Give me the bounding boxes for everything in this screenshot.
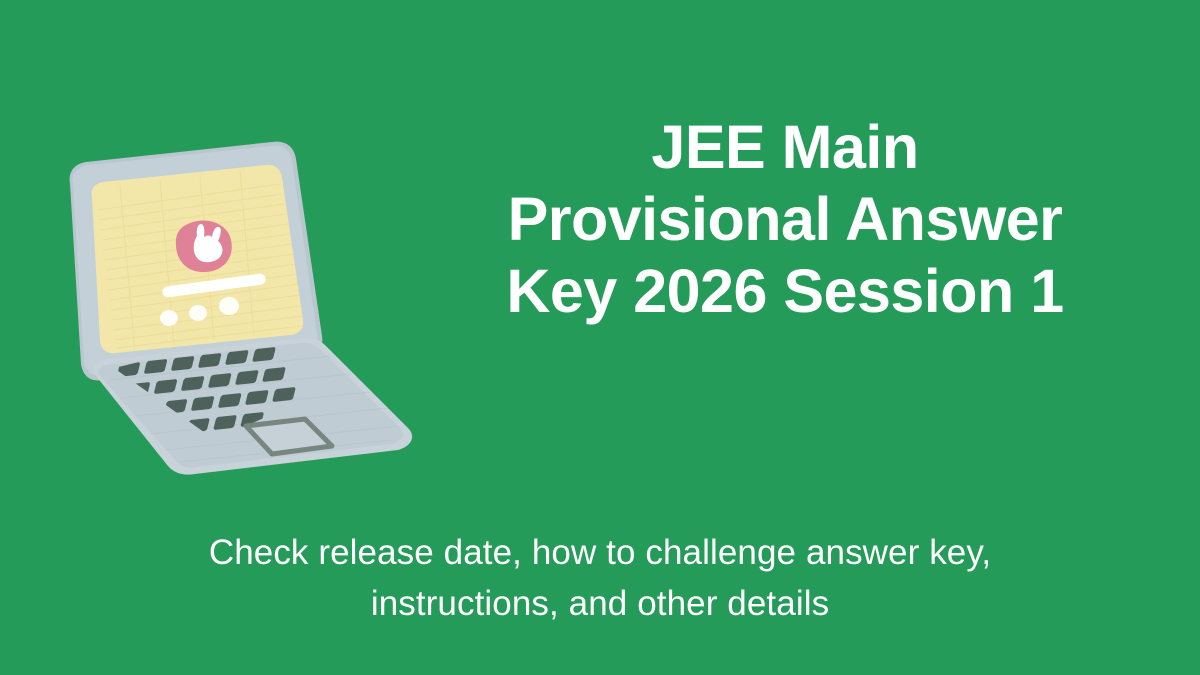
headline-line-3: Key 2026 Session 1	[400, 256, 1170, 328]
subtitle-line-1: Check release date, how to challenge ans…	[30, 528, 1170, 579]
page-title: JEE Main Provisional Answer Key 2026 Ses…	[400, 112, 1170, 328]
headline-line-2: Provisional Answer	[400, 184, 1170, 256]
page-subtitle: Check release date, how to challenge ans…	[30, 528, 1170, 630]
headline-line-1: JEE Main	[400, 112, 1170, 184]
promo-banner: JEE Main Provisional Answer Key 2026 Ses…	[0, 0, 1200, 675]
user-avatar-icon	[176, 220, 232, 272]
subtitle-line-2: instructions, and other details	[30, 579, 1170, 630]
laptop-illustration	[40, 140, 420, 485]
